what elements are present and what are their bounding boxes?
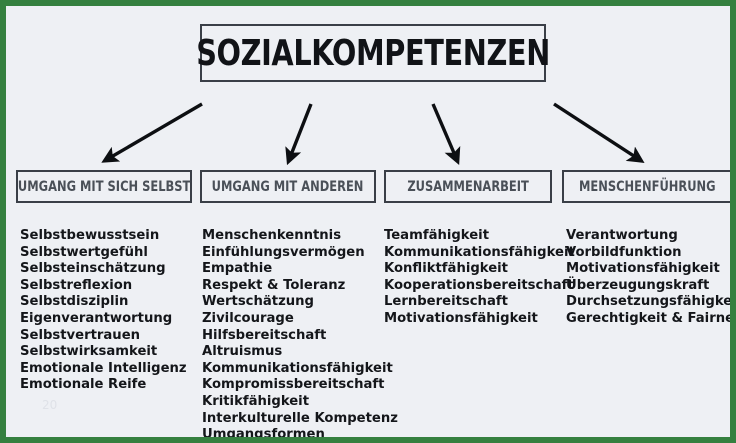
competency-item: Emotionale Intelligenz [20,361,187,378]
competency-item: Motivationsfähigkeit [384,311,575,328]
competency-list-2: MenschenkenntnisEinfühlungsvermögenEmpat… [202,228,398,443]
competency-item: Eigenverantwortung [20,311,187,328]
competency-item: Kommunikationsfähigkeit [202,361,398,378]
arrow-to-zusammenarbeit [433,104,457,160]
competency-item: Selbstvertrauen [20,328,187,345]
competency-item: Selbstbewusstsein [20,228,187,245]
competency-item: Selbstdisziplin [20,294,187,311]
category-header-box-3: ZUSAMMENARBEIT [384,170,552,203]
competency-item: Einfühlungsvermögen [202,245,398,262]
competency-item: Selbstwirksamkeit [20,344,187,361]
category-header-box-2: UMGANG MIT ANDEREN [200,170,376,203]
competency-item: Konfliktfähigkeit [384,261,575,278]
category-header-label-2: UMGANG MIT ANDEREN [212,179,364,195]
competency-item: Kompromissbereitschaft [202,377,398,394]
competency-item: Altruismus [202,344,398,361]
competency-item: Umgangsformen [202,427,398,443]
competency-item: Motivationsfähigkeit [566,261,736,278]
competency-item: Kommunikationsfähigkeit [384,245,575,262]
competency-item: Gerechtigkeit & Fairness [566,311,736,328]
category-header-label-3: ZUSAMMENARBEIT [407,179,529,195]
page-title: SOZIALKOMPETENZEN [196,33,550,74]
competency-item: Empathie [202,261,398,278]
competency-item: Überzeugungskraft [566,278,736,295]
competency-item: Verantwortung [566,228,736,245]
competency-item: Wertschätzung [202,294,398,311]
competency-item: Hilfsbereitschaft [202,328,398,345]
arrow-to-umgang-mit-anderen [289,104,311,160]
competency-item: Selbstwertgefühl [20,245,187,262]
competency-list-4: VerantwortungVorbildfunktionMotivationsf… [566,228,736,328]
competency-item: Emotionale Reife [20,377,187,394]
competency-item: Kritikfähigkeit [202,394,398,411]
category-header-box-4: MENSCHENFÜHRUNG [562,170,732,203]
main-title-box: SOZIALKOMPETENZEN [200,24,546,82]
competency-item: Zivilcourage [202,311,398,328]
page-number-watermark: 20 [42,398,57,412]
competency-item: Lernbereitschaft [384,294,575,311]
competency-list-3: TeamfähigkeitKommunikationsfähigkeitKonf… [384,228,575,328]
category-header-label-4: MENSCHENFÜHRUNG [579,179,716,195]
arrow-to-menschenfuehrung [554,104,640,160]
competency-item: Selbstreflexion [20,278,187,295]
competency-item: Menschenkenntnis [202,228,398,245]
competency-item: Selbsteinschätzung [20,261,187,278]
competency-item: Interkulturelle Kompetenz [202,411,398,428]
diagram-canvas: SOZIALKOMPETENZEN UMGANG MIT SICH SELBST… [0,0,736,443]
arrow-to-umgang-mit-sich-selbst [106,104,202,160]
competency-item: Kooperationsbereitschaft [384,278,575,295]
category-header-box-1: UMGANG MIT SICH SELBST [16,170,192,203]
competency-list-1: SelbstbewusstseinSelbstwertgefühlSelbste… [20,228,187,394]
competency-item: Respekt & Toleranz [202,278,398,295]
category-header-label-1: UMGANG MIT SICH SELBST [18,179,190,195]
competency-item: Teamfähigkeit [384,228,575,245]
competency-item: Vorbildfunktion [566,245,736,262]
competency-item: Durchsetzungsfähigkeit [566,294,736,311]
